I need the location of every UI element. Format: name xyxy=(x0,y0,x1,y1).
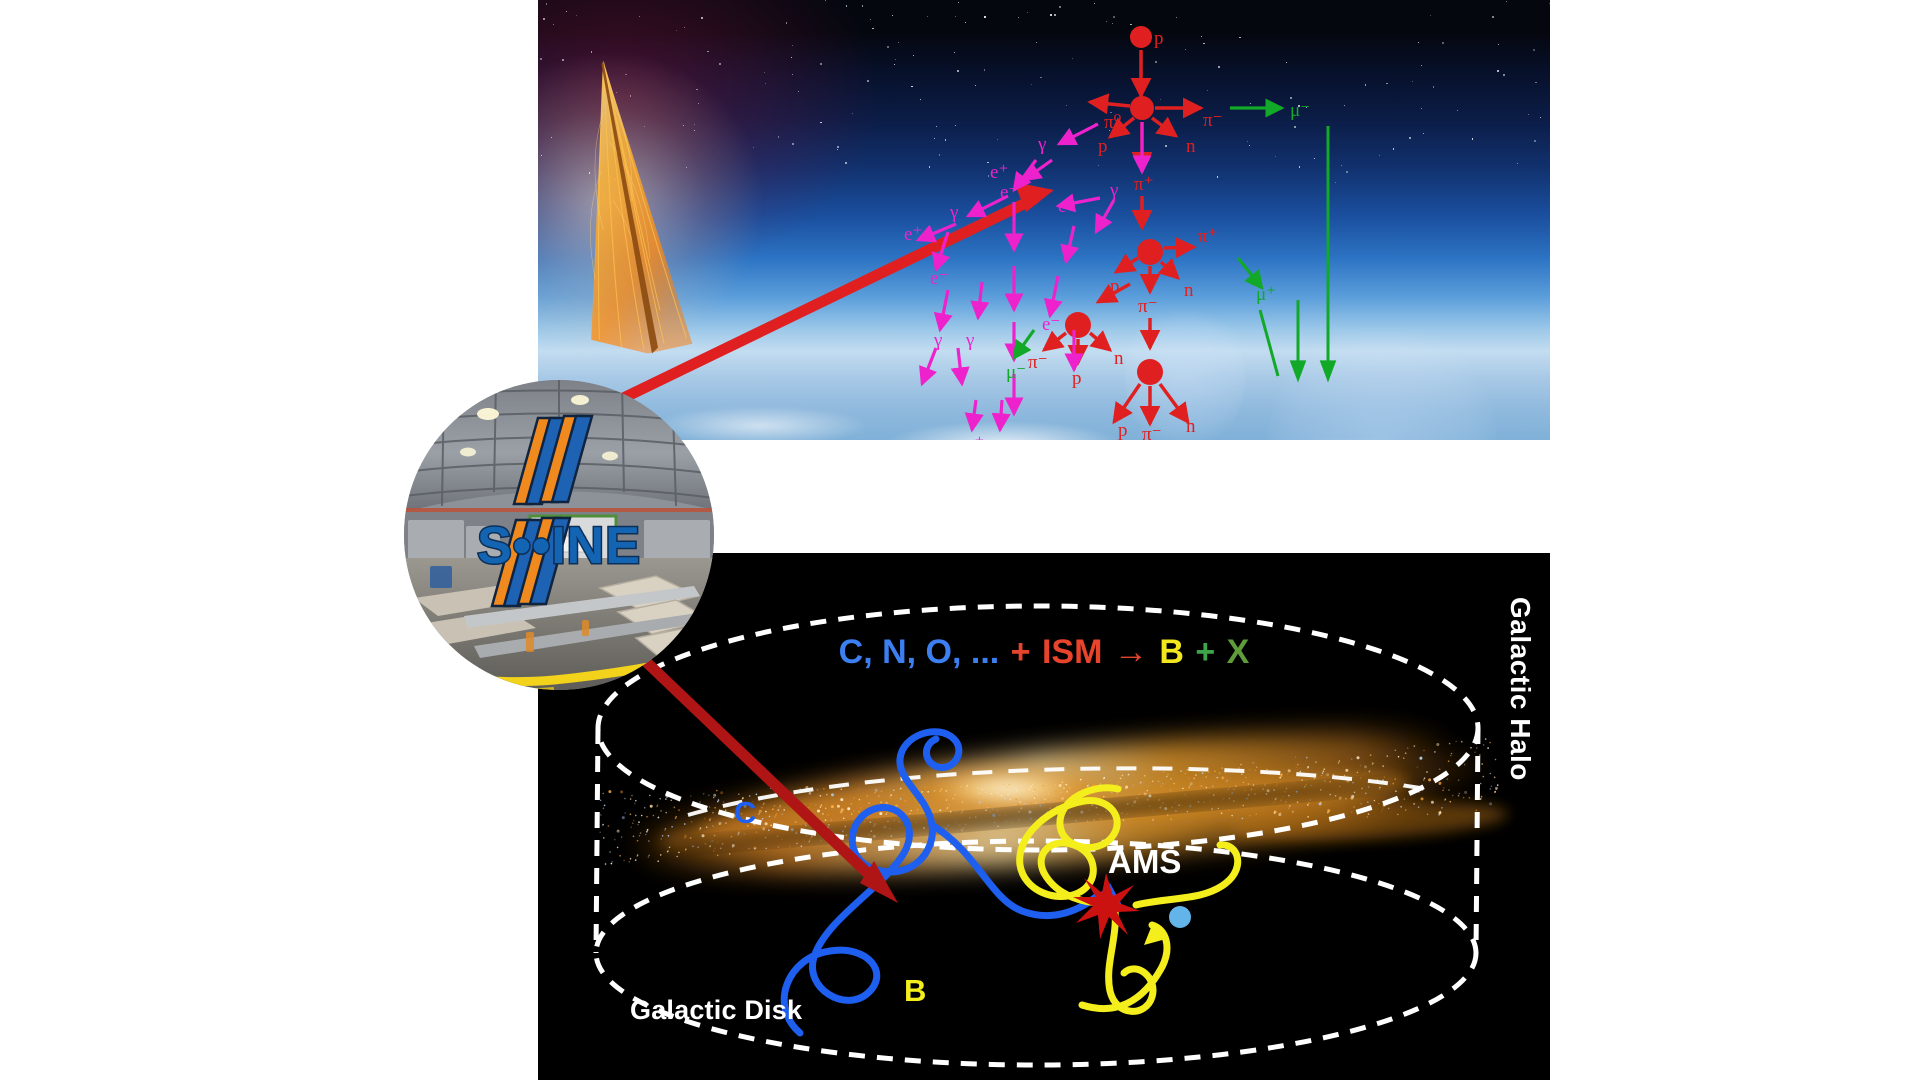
svg-text:n: n xyxy=(1184,280,1194,301)
svg-text:p: p xyxy=(1098,136,1108,157)
svg-text:e⁺: e⁺ xyxy=(1058,196,1076,217)
svg-text:γ: γ xyxy=(965,330,974,351)
svg-text:n: n xyxy=(1186,416,1196,437)
cascade-particle-labels: p p n π⁻ π⁰ π⁺ π⁺ p n π⁻ π⁻ p n p π⁻ n γ… xyxy=(904,28,1310,457)
shine-experiment-logo[interactable]: S••INE xyxy=(404,380,714,690)
svg-text:π⁻: π⁻ xyxy=(1138,296,1158,317)
svg-text:μ⁻: μ⁻ xyxy=(1290,100,1310,121)
svg-text:π⁰: π⁰ xyxy=(1104,112,1122,133)
svg-text:π⁻: π⁻ xyxy=(1203,110,1223,131)
svg-text:p: p xyxy=(1072,368,1082,389)
svg-text:γ: γ xyxy=(1109,180,1118,201)
shine-wordmark: S••INE xyxy=(404,516,714,576)
svg-text:μ⁻: μ⁻ xyxy=(1006,362,1026,383)
svg-text:γ: γ xyxy=(1037,134,1046,155)
svg-text:π⁺: π⁺ xyxy=(1134,174,1154,195)
svg-text:π⁻: π⁻ xyxy=(1028,352,1048,373)
svg-text:p: p xyxy=(1118,420,1128,441)
svg-text:e⁻: e⁻ xyxy=(1042,314,1060,335)
svg-text:π⁺: π⁺ xyxy=(1198,226,1218,247)
svg-text:μ⁺: μ⁺ xyxy=(1256,284,1276,305)
svg-text:γ: γ xyxy=(933,330,942,351)
svg-text:n: n xyxy=(1186,136,1196,157)
svg-text:e⁻: e⁻ xyxy=(930,268,948,289)
electromagnetic-cascade xyxy=(918,122,1142,430)
svg-text:e⁺: e⁺ xyxy=(904,224,922,245)
label-p-primary: p xyxy=(1154,28,1164,49)
svg-text:e⁺: e⁺ xyxy=(990,162,1008,183)
figure-root: p p n π⁻ π⁰ π⁺ π⁺ p n π⁻ π⁻ p n p π⁻ n γ… xyxy=(0,0,1920,1080)
svg-text:p: p xyxy=(1110,276,1120,297)
svg-text:n: n xyxy=(1114,348,1124,369)
svg-text:γ: γ xyxy=(949,202,958,223)
svg-text:e⁻: e⁻ xyxy=(1000,182,1018,203)
